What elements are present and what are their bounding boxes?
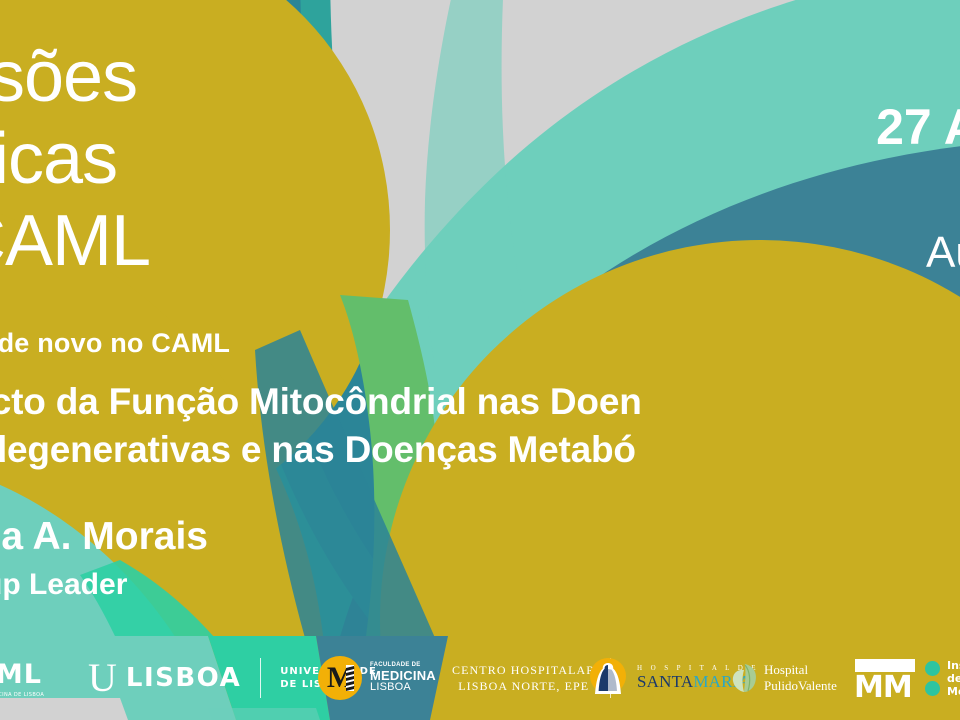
series-title: ssões nicas CAML — [0, 36, 150, 282]
logo-imm-text: Inst de M Mol — [947, 659, 960, 698]
logo-hospital-pulido-valente: Hospital PulidoValente — [730, 636, 837, 720]
event-poster: ssões nicas CAML 27 AB 12 Aula Magna da … — [0, 0, 960, 720]
imm-dot-bottom — [925, 681, 940, 696]
imm-dot-top — [925, 661, 940, 676]
logo-ulisboa-wordmark: LISBOA — [126, 663, 241, 693]
logo-imm-line1: Inst — [947, 659, 960, 672]
talk-title: pacto da Função Mitocôndrial nas Doen ro… — [0, 378, 642, 474]
logo-imm-line3: Mol — [947, 685, 960, 698]
sponsor-logo-bar: AML DE MEDICINA DE LISBOA U LISBOA UNIVE… — [0, 636, 960, 720]
svg-text:MM: MM — [854, 670, 912, 700]
logo-fml-badge: M — [318, 656, 362, 700]
logo-chln-line1: CENTRO HOSPITALAR — [452, 662, 595, 678]
imm-dots-icon — [925, 661, 940, 696]
logo-fml-line3: LISBOA — [370, 682, 436, 694]
event-venue: Aula Magna da — [926, 228, 960, 278]
speaker-role: roup Leader — [0, 568, 127, 602]
caduceus-icon — [346, 665, 354, 691]
speaker-name: ssa A. Morais — [0, 515, 208, 559]
logo-centro-hospitalar: CENTRO HOSPITALAR LISBOA NORTE, EPE — [452, 636, 595, 720]
logo-caml-wordmark: AML — [0, 659, 44, 690]
logo-fml-text: FACULDADE DE MEDICINA LISBOA — [370, 662, 436, 693]
logo-instituto-medicina-molecular: MM Inst de M Mol — [854, 636, 960, 720]
logo-imm-line2: de M — [947, 672, 960, 685]
logo-caml-subtitle: DE MEDICINA DE LISBOA — [0, 692, 44, 698]
logo-chln-line2: LISBOA NORTE, EPE — [452, 678, 595, 694]
logo-chln-text: CENTRO HOSPITALAR LISBOA NORTE, EPE — [452, 662, 595, 694]
logo-hpv-line2: PulidoValente — [764, 678, 837, 694]
logo-hpv-line1: Hospital — [764, 662, 837, 678]
logo-ulisboa-u-glyph: U — [88, 658, 117, 698]
logo-hsm-word-santa: SANTA — [637, 672, 693, 691]
logo-faculdade-medicina: M FACULDADE DE MEDICINA LISBOA — [318, 636, 436, 720]
santa-maria-figure-icon — [588, 656, 630, 700]
logo-ulisboa-divider — [260, 658, 261, 698]
leaf-icon — [730, 662, 760, 694]
logo-hpv-text: Hospital PulidoValente — [764, 662, 837, 694]
kicker-text: há de novo no CAML — [0, 328, 230, 359]
event-date: 27 AB — [876, 98, 960, 156]
logo-caml: AML DE MEDICINA DE LISBOA — [0, 636, 44, 720]
imm-mark-icon: MM — [854, 656, 918, 700]
logo-fml-line2: MEDICINA — [370, 669, 436, 683]
